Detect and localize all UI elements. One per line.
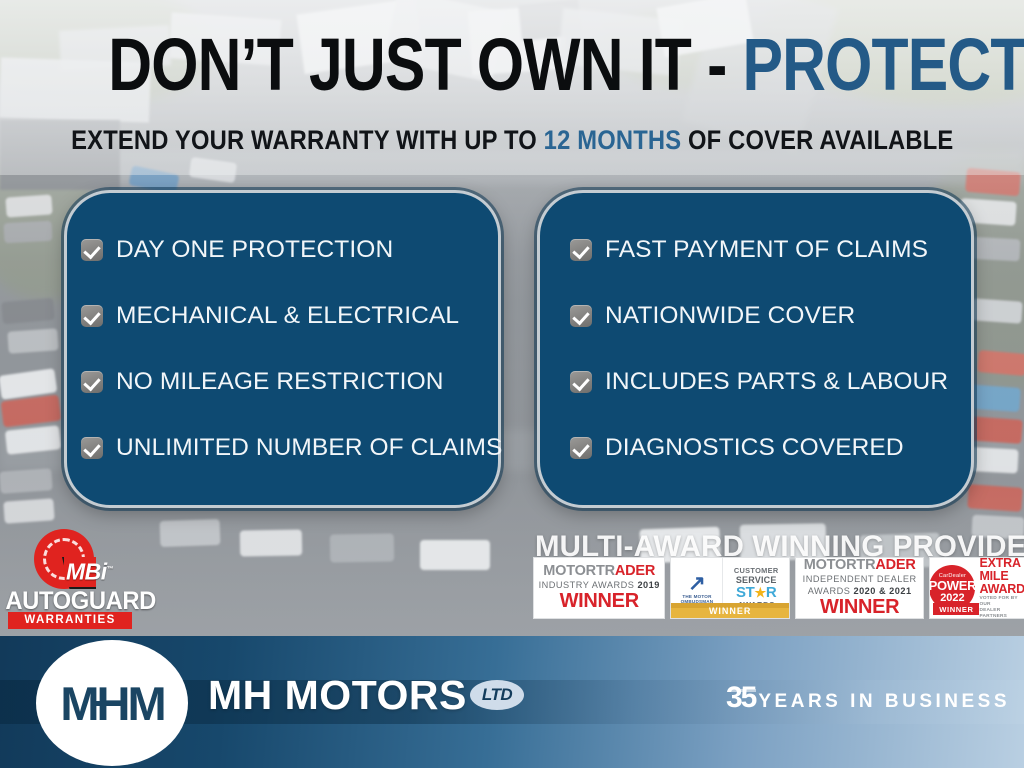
feature-item: INCLUDES PARTS & LABOUR [540,349,971,415]
feature-item: UNLIMITED NUMBER OF CLAIMS [67,415,498,481]
feature-label: INCLUDES PARTS & LABOUR [605,368,948,396]
power-year: 2022 [940,592,964,604]
awards-strip: MOTORTRADER INDUSTRY AWARDS 2019 WINNER … [533,557,1024,619]
cardealer-power-logo: CarDealer POWER 2022 WINNER [929,558,975,618]
award-winner-label: WINNER [560,591,639,612]
subheadline: EXTEND YOUR WARRANTY WITH UP TO 12 MONTH… [0,124,1024,156]
award-brand: MOTORTRADER [543,564,655,579]
feature-item: MECHANICAL & ELECTRICAL [67,283,498,349]
checkmark-icon [570,371,592,393]
checkmark-icon [81,371,103,393]
mbi-mark-text: MBi [66,559,107,585]
extra-mile-line-three: AWARD [979,583,1024,596]
mhm-logo: MHM [36,640,188,766]
award-badge-motortrader-2019: MOTORTRADER INDUSTRY AWARDS 2019 WINNER [533,557,665,619]
award-winner-label: WINNER [709,606,752,616]
feature-item: DIAGNOSTICS COVERED [540,415,971,481]
checkmark-icon [570,305,592,327]
award-winner-bar: WINNER [671,603,788,618]
checkmark-icon [570,437,592,459]
award-subtitle-prefix: AWARDS [808,586,854,596]
csa-star-prefix: ST [736,584,755,601]
years-number: 35 [726,684,755,712]
feature-item: DAY ONE PROTECTION [67,217,498,283]
award-badge-motortrader-independent-dealer: MOTORTRADER INDEPENDENT DEALER AWARDS 20… [795,557,924,619]
feature-label: NATIONWIDE COVER [605,302,855,330]
mhm-monogram: MHM [60,676,163,731]
award-winner-label: WINNER [933,603,979,615]
power-label: POWER [929,579,976,592]
years-in-business: 35 YEARS IN BUSINESS [726,684,1010,713]
csa-line-one: CUSTOMER [734,567,779,575]
award-badge-cardealer-power-extra-mile: CarDealer POWER 2022 WINNER EXTRA MILE A… [929,557,1024,619]
mbi-trademark: ™ [107,566,114,573]
csa-star-line: ST★R [736,585,776,601]
feature-label: MECHANICAL & ELECTRICAL [116,302,459,330]
award-badge-customer-service-star: ↗ THE MOTOR OMBUDSMAN CUSTOMER SERVICE S… [670,557,789,619]
extra-mile-subtitle-one: VOTED FOR BY OUR [979,596,1024,608]
checkmark-icon [81,305,103,327]
checkmark-icon [81,239,103,261]
headline-part-one: DON’T JUST OWN IT - [108,23,742,106]
ltd-label: LTD [482,685,512,705]
award-brand-red: ADER [615,563,655,579]
csa-star-suffix: R [766,584,777,601]
headline-part-two: PROTECT IT [742,23,1024,106]
star-icon: ★ [755,585,766,600]
feature-item: NO MILEAGE RESTRICTION [67,349,498,415]
award-brand: MOTORTRADER [804,558,916,573]
autoguard-subtitle: WARRANTIES [8,612,132,629]
mbi-mark-label: MBi™ [66,557,130,585]
award-years: 2020 & 2021 [853,586,911,596]
banner-canvas: DON’T JUST OWN IT - PROTECT IT EXTEND YO… [0,0,1024,768]
feature-label: DAY ONE PROTECTION [116,236,393,264]
extra-mile-award-text: EXTRA MILE AWARD VOTED FOR BY OUR DEALER… [975,557,1024,619]
award-winner-label: WINNER [820,597,899,618]
feature-label: NO MILEAGE RESTRICTION [116,368,444,396]
mbi-autoguard-badge: MBi™ AUTOGUARD WARRANTIES [4,527,136,627]
feature-item: FAST PAYMENT OF CLAIMS [540,217,971,283]
ombudsman-mark-icon: ↗ [688,574,706,594]
feature-label: FAST PAYMENT OF CLAIMS [605,236,928,264]
mhm-crossbar [96,701,122,706]
feature-item: NATIONWIDE COVER [540,283,971,349]
award-brand-gray: MOTORTR [804,557,876,573]
extra-mile-line-two: MILE [979,570,1008,583]
extra-mile-line-one: EXTRA [979,557,1020,570]
ltd-badge: LTD [470,680,524,710]
award-brand-gray: MOTORTR [543,563,615,579]
brand-name: MH MOTORS [208,672,467,719]
features-panel-left: DAY ONE PROTECTION MECHANICAL & ELECTRIC… [64,190,501,508]
award-subtitle: INDEPENDENT DEALER [803,573,917,585]
award-year: 2019 [637,580,659,590]
award-subtitle-text: INDUSTRY AWARDS [539,580,638,590]
features-panel-right: FAST PAYMENT OF CLAIMS NATIONWIDE COVER … [537,190,974,508]
subheadline-part-one: EXTEND YOUR WARRANTY WITH UP TO [71,125,544,155]
feature-label: UNLIMITED NUMBER OF CLAIMS [116,434,502,462]
extra-mile-subtitle-two: DEALER PARTNERS [979,608,1024,620]
headline: DON’T JUST OWN IT - PROTECT IT [0,24,1024,106]
checkmark-icon [81,437,103,459]
checkmark-icon [570,239,592,261]
subheadline-part-two: OF COVER AVAILABLE [681,125,953,155]
feature-label: DIAGNOSTICS COVERED [605,434,904,462]
subheadline-highlight: 12 MONTHS [543,125,681,155]
years-label: YEARS IN BUSINESS [758,691,1010,713]
award-brand-red: ADER [875,557,915,573]
